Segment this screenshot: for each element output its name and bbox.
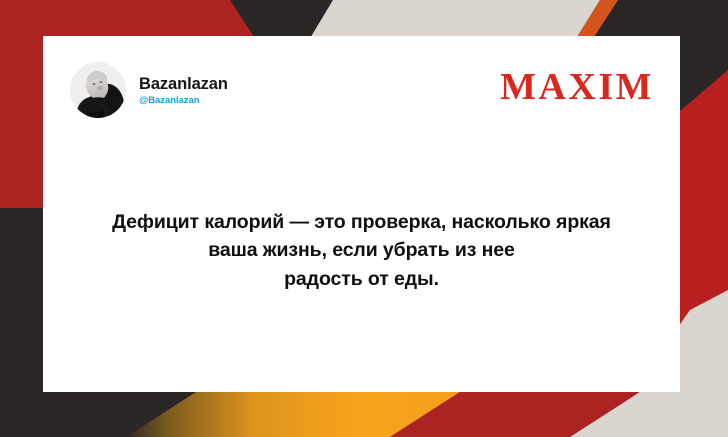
- quote-line-1: Дефицит калорий — это проверка, наскольк…: [71, 208, 652, 236]
- screenshot-root: Bazanlazan @Bazanlazan MAXIM Дефицит кал…: [0, 0, 728, 437]
- card-header: Bazanlazan @Bazanlazan MAXIM: [70, 62, 656, 124]
- author-display-name: Bazanlazan: [139, 75, 228, 94]
- author-handle[interactable]: @Bazanlazan: [139, 96, 228, 107]
- quote-line-3: радость от еды.: [71, 265, 652, 293]
- tweet-card: Bazanlazan @Bazanlazan MAXIM Дефицит кал…: [43, 36, 680, 392]
- author-block[interactable]: Bazanlazan @Bazanlazan: [70, 62, 228, 118]
- avatar-photo-icon[interactable]: [70, 62, 126, 118]
- quote-text: Дефицит калорий — это проверка, наскольк…: [71, 208, 652, 293]
- maxim-brand-logo: MAXIM: [500, 62, 656, 106]
- author-names: Bazanlazan @Bazanlazan: [139, 73, 228, 107]
- quote-line-2: ваша жизнь, если убрать из нее: [71, 236, 652, 264]
